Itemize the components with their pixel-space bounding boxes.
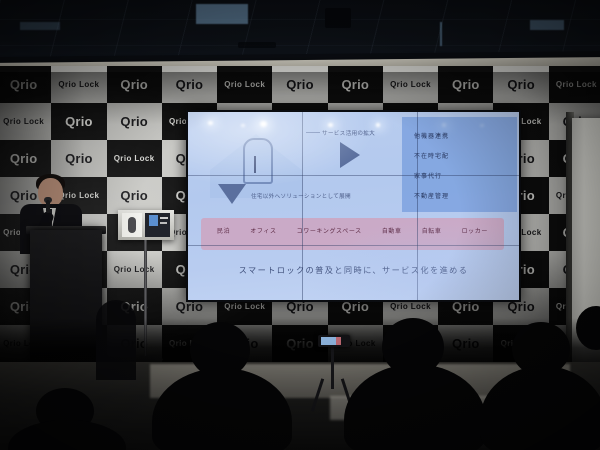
arrow-lead-line xyxy=(306,132,320,133)
segments-list: 民泊 オフィス コワーキングスペース 自動車 自転車 ロッカー xyxy=(201,226,504,235)
light-reflection xyxy=(376,123,380,127)
qrio-logo: Qrio xyxy=(10,77,38,92)
ceiling-pole xyxy=(440,22,442,46)
ceiling-light-panel xyxy=(530,20,564,30)
backdrop-logo-tile: Qrio xyxy=(107,103,162,140)
qrio-logo: Qrio xyxy=(120,188,148,203)
ceiling-rail xyxy=(238,42,276,48)
service-item: 他機器連携 xyxy=(414,131,449,140)
smart-lock-door-icon xyxy=(243,138,273,184)
projection-screen-frame: サービス活用の拡大 他機器連携 不在時宅配 家事代行 不動産管理 住宅以外へソリ… xyxy=(186,110,521,302)
microphone-icon xyxy=(46,200,50,213)
qrio-lock-logo: Qrio Lock xyxy=(114,154,155,163)
service-item: 不動産管理 xyxy=(414,191,449,200)
qrio-logo: Qrio xyxy=(507,77,535,92)
presenter-head xyxy=(38,178,63,207)
light-reflection xyxy=(328,123,333,127)
segment-item: 自動車 xyxy=(382,226,402,235)
qrio-lock-logo: Qrio Lock xyxy=(556,80,597,89)
segment-item: ロッカー xyxy=(462,226,488,235)
qrio-logo: Qrio xyxy=(176,77,204,92)
qrio-logo: Qrio xyxy=(120,77,148,92)
arrow-down-icon xyxy=(218,184,246,204)
foreground-shadow xyxy=(0,318,600,366)
qrio-logo: Qrio xyxy=(10,151,38,166)
backdrop-logo-tile: Qrio xyxy=(162,66,217,103)
phone-photo xyxy=(149,215,158,226)
segment-item: 民泊 xyxy=(217,226,230,235)
qrio-logo: Qrio xyxy=(65,151,93,166)
slide-caption: スマートロックの普及と同時に、サービス化を進める xyxy=(188,264,519,276)
backdrop-logo-tile: Qrio Lock xyxy=(107,140,162,177)
backdrop-logo-tile: Qrio Lock xyxy=(51,66,106,103)
backdrop-logo-tile: Qrio xyxy=(51,140,106,177)
qrio-logo: Qrio xyxy=(65,114,93,129)
door-handle-icon xyxy=(254,156,256,173)
projection-screen: サービス活用の拡大 他機器連携 不在時宅配 家事代行 不動産管理 住宅以外へソリ… xyxy=(188,112,519,300)
backdrop-logo-tile: Qrio Lock xyxy=(549,66,600,103)
backdrop-logo-tile: Qrio Lock xyxy=(217,66,272,103)
backdrop-logo-tile: Qrio xyxy=(272,66,327,103)
ceiling-light-panel xyxy=(196,4,248,24)
display-text-line xyxy=(160,217,168,219)
qrio-logo: Qrio xyxy=(452,77,480,92)
backdrop-logo-tile: Qrio xyxy=(51,103,106,140)
segment-item: オフィス xyxy=(250,226,276,235)
backdrop-logo-tile: Qrio xyxy=(493,66,548,103)
backdrop-logo-tile: Qrio xyxy=(328,66,383,103)
backdrop-logo-tile: Qrio xyxy=(107,66,162,103)
backdrop-logo-tile: Qrio Lock xyxy=(383,66,438,103)
qrio-lock-logo: Qrio Lock xyxy=(3,117,44,126)
light-reflection xyxy=(241,124,245,127)
backdrop-logo-tile: Qrio xyxy=(0,66,51,103)
camera-screen-detail xyxy=(336,337,341,345)
backdrop-logo-tile: Qrio xyxy=(438,66,493,103)
qrio-lock-logo: Qrio Lock xyxy=(224,80,265,89)
audience-silhouette xyxy=(96,300,136,380)
segment-item: コワーキングスペース xyxy=(297,226,362,235)
qrio-logo: Qrio xyxy=(120,114,148,129)
arrow-right-icon xyxy=(340,142,360,168)
backdrop-logo-tile: Qrio xyxy=(107,177,162,214)
product-display-panel xyxy=(118,210,174,240)
arrow-down-label: 住宅以外へソリューションとして展開 xyxy=(251,192,351,200)
qrio-lock-logo: Qrio Lock xyxy=(224,302,265,311)
screen-seam xyxy=(188,245,519,246)
qrio-logo: Qrio xyxy=(286,77,314,92)
services-box: 他機器連携 不在時宅配 家事代行 不動産管理 xyxy=(402,117,517,212)
ceiling-light-panel xyxy=(20,22,60,30)
qrio-lock-logo: Qrio Lock xyxy=(390,80,431,89)
screen-seam xyxy=(302,112,303,300)
arrow-right-label: サービス活用の拡大 xyxy=(322,129,375,137)
backdrop-logo-tile: Qrio Lock xyxy=(0,103,51,140)
backdrop-logo-tile: Qrio Lock xyxy=(107,251,162,288)
display-text-line xyxy=(160,222,167,224)
qrio-lock-logo: Qrio Lock xyxy=(390,302,431,311)
qrio-lock-logo: Qrio Lock xyxy=(114,265,155,274)
light-reflection xyxy=(260,121,267,127)
qrio-lock-logo: Qrio Lock xyxy=(58,80,99,89)
ceiling-vent xyxy=(325,8,351,28)
service-item: 不在時宅配 xyxy=(414,151,449,160)
tripod-pole xyxy=(331,347,334,389)
qrio-logo: Qrio xyxy=(342,77,370,92)
photo-scene: QrioQrio LockQrioQrioQrio LockQrioQrioQr… xyxy=(0,0,600,450)
smart-lock-photo xyxy=(128,217,136,233)
segment-item: 自転車 xyxy=(422,226,442,235)
screen-seam xyxy=(417,112,418,300)
screen-seam xyxy=(188,175,519,176)
backdrop-logo-tile: Qrio xyxy=(0,140,51,177)
light-reflection xyxy=(208,121,213,125)
